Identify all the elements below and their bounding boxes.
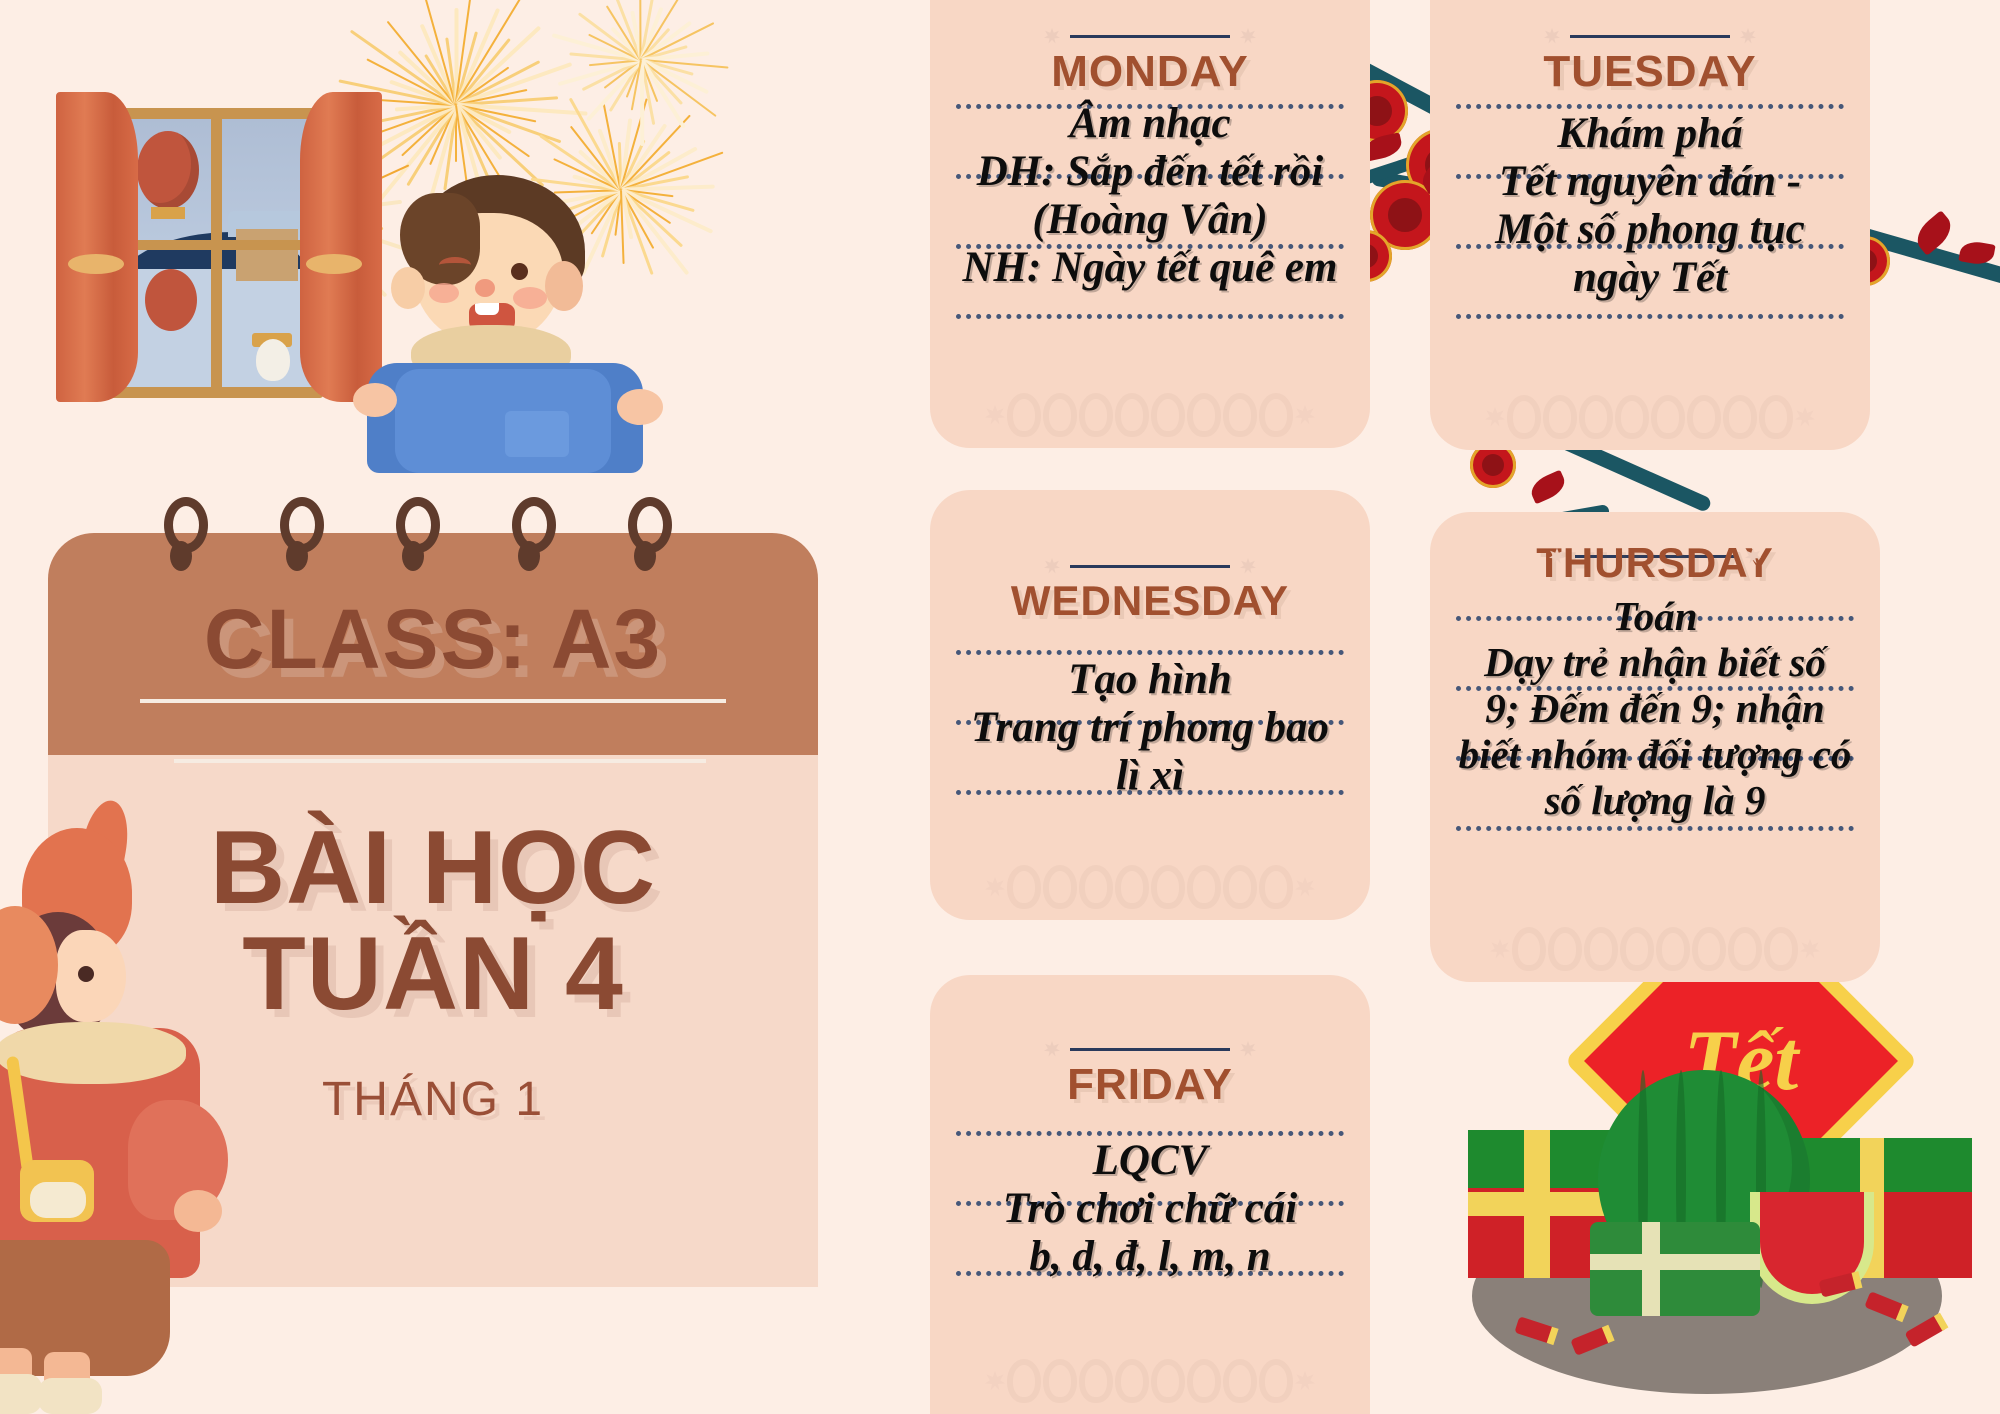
house-icon: [236, 229, 298, 281]
card-header-rule: [956, 1041, 1344, 1057]
flower-icon: [1240, 1041, 1256, 1057]
dotted-rule: [1456, 104, 1844, 109]
lesson-line: Âm nhạc: [956, 100, 1344, 148]
lessons-thursday: Toán Dạy trẻ nhận biết số 9; Đếm đến 9; …: [1456, 594, 1854, 824]
card-header-rule: [956, 28, 1344, 44]
boy-jacket-front: [395, 369, 611, 473]
flower-icon: [1544, 28, 1560, 44]
lesson-line: (Hoàng Vân): [956, 196, 1344, 244]
gift-box-left-ribbon-v: [1524, 1130, 1550, 1278]
rule-line: [1070, 1048, 1230, 1051]
lesson-line: Tạo hình: [956, 656, 1344, 704]
swirl-loop: [1656, 927, 1690, 971]
calendar-ring-4: [512, 497, 556, 573]
calendar-ring-2: [280, 497, 324, 573]
swirl-loop: [1007, 865, 1041, 909]
boy-blush-left: [429, 283, 459, 303]
lesson-line: b, d, đ, l, m, n: [956, 1233, 1344, 1281]
dotted-rule: [1456, 314, 1844, 319]
swirl-loop: [1259, 1359, 1293, 1403]
calendar-ring-1: [164, 497, 208, 573]
swirl-loop: [1512, 927, 1546, 971]
lesson-line: số lượng là 9: [1456, 778, 1854, 824]
swirl-loop: [1548, 927, 1582, 971]
calendar-ring-3: [396, 497, 440, 573]
lantern-icon: [137, 131, 199, 209]
swirl-loop: [1043, 393, 1077, 437]
calendar-rule-bottom: [174, 759, 706, 763]
girl-hand: [174, 1190, 222, 1232]
flower-icon: [1044, 28, 1060, 44]
tet-decoration: Tết: [1420, 930, 1980, 1400]
day-name-thursday: THURSDAY: [1456, 542, 1854, 584]
banh-chung-string-v: [1642, 1222, 1660, 1316]
lessons-monday: Âm nhạc DH: Sắp đến tết rồi (Hoàng Vân) …: [956, 100, 1344, 293]
lesson-line: Toán: [1456, 594, 1854, 640]
rule-line: [1570, 35, 1730, 38]
boy-ear-left: [391, 267, 425, 309]
dotted-rule: [1456, 826, 1854, 831]
swirl-loop: [1187, 1359, 1221, 1403]
lesson-line: Dạy trẻ nhận biết số: [1456, 640, 1854, 686]
flower-icon: [1485, 407, 1505, 427]
lantern-tassel-icon: [151, 207, 185, 219]
boy-hand-right: [617, 389, 663, 425]
swirl-loop: [1151, 393, 1185, 437]
girl-collar: [0, 1022, 186, 1084]
lesson-line: 9; Đếm đến 9; nhận: [1456, 686, 1854, 732]
day-name-friday: FRIDAY: [956, 1063, 1344, 1107]
lesson-line: biết nhóm đối tượng có: [1456, 732, 1854, 778]
swirl-loop: [1687, 395, 1721, 439]
swirl-loop: [1723, 395, 1757, 439]
snowman-icon: [256, 339, 290, 381]
day-name-tuesday: TUESDAY: [1456, 50, 1844, 94]
card-header-rule: [1456, 28, 1844, 44]
day-card-friday[interactable]: FRIDAY LQCV Trò chơi chữ cái b, d, đ, l,…: [930, 975, 1370, 1414]
flower-icon: [1800, 939, 1820, 959]
flower-icon: [985, 877, 1005, 897]
flower-icon: [1240, 28, 1256, 44]
day-card-tuesday[interactable]: TUESDAY Khám phá Tết nguyên đán - Một số…: [1430, 0, 1870, 450]
girl-boot-left: [0, 1374, 42, 1414]
swirl-loop: [1007, 1359, 1041, 1403]
curtain-tie-right: [306, 254, 362, 274]
window-illustration: [48, 78, 388, 408]
lesson-line: ngày Tết: [1456, 254, 1844, 302]
dotted-rule: [956, 314, 1344, 319]
swirl-loop: [1728, 927, 1762, 971]
boy-nose: [475, 279, 495, 297]
day-card-thursday[interactable]: THURSDAY Toán Dạy trẻ nhận biết số 9; Đế…: [1430, 512, 1880, 982]
swirl-loop: [1115, 1359, 1149, 1403]
flower-icon: [1490, 939, 1510, 959]
swirl-loop: [1507, 395, 1541, 439]
calendar-ring-5: [628, 497, 672, 573]
swirl-loop: [1584, 927, 1618, 971]
swirl-loop: [1764, 927, 1798, 971]
swirl-decoration: [1456, 922, 1854, 976]
swirl-loop: [1079, 393, 1113, 437]
dotted-rule: [956, 1131, 1344, 1136]
swirl-loop: [1543, 395, 1577, 439]
girl-bag-cat-face: [30, 1182, 86, 1218]
swirl-loop: [1579, 395, 1613, 439]
lessons-wednesday: Tạo hình Trang trí phong bao lì xì: [956, 656, 1344, 800]
flower-icon: [1295, 877, 1315, 897]
swirl-loop: [1223, 393, 1257, 437]
curtain-left: [56, 92, 138, 402]
weekly-lesson-poster: CLASS: A3 BÀI HỌC TUẦN 4 THÁNG 1 Tết: [0, 0, 2000, 1414]
boy-pocket: [505, 411, 569, 457]
rule-line: [1070, 35, 1230, 38]
swirl-loop: [1223, 1359, 1257, 1403]
curtain-tie-left: [68, 254, 124, 274]
swirl-loop: [1759, 395, 1793, 439]
flower-icon: [1795, 407, 1815, 427]
flower-icon: [1044, 1041, 1060, 1057]
flower-icon: [985, 405, 1005, 425]
calendar-rule-top: [140, 699, 726, 703]
swirl-loop: [1043, 1359, 1077, 1403]
flower-icon: [1295, 1371, 1315, 1391]
flower-icon: [1044, 558, 1060, 574]
boy-eye-right: [511, 263, 528, 280]
swirl-loop: [1259, 393, 1293, 437]
swirl-decoration: [1456, 390, 1844, 444]
lesson-line: LQCV: [956, 1137, 1344, 1185]
flower-icon: [985, 1371, 1005, 1391]
day-card-monday[interactable]: MONDAY Âm nhạc DH: Sắp đến tết rồi (Hoàn…: [930, 0, 1370, 448]
swirl-loop: [1223, 865, 1257, 909]
lesson-line: NH: Ngày tết quê em: [956, 244, 1344, 292]
lesson-line: Một số phong tục: [1456, 206, 1844, 254]
girl-boot-right: [38, 1378, 102, 1414]
window-frame: [108, 108, 323, 398]
swirl-loop: [1079, 1359, 1113, 1403]
swirl-loop: [1043, 865, 1077, 909]
swirl-loop: [1259, 865, 1293, 909]
swirl-loop: [1615, 395, 1649, 439]
swirl-decoration: [956, 1354, 1344, 1408]
day-name-monday: MONDAY: [956, 50, 1344, 94]
flower-icon: [1295, 405, 1315, 425]
lessons-tuesday: Khám phá Tết nguyên đán - Một số phong t…: [1456, 110, 1844, 303]
lesson-line: lì xì: [956, 752, 1344, 800]
lessons-friday: LQCV Trò chơi chữ cái b, d, đ, l, m, n: [956, 1137, 1344, 1281]
banh-chung-string-h: [1590, 1254, 1760, 1270]
swirl-loop: [1692, 927, 1726, 971]
boy-illustration: [355, 175, 655, 435]
lesson-line: Tết nguyên đán -: [1456, 158, 1844, 206]
lesson-line: Khám phá: [1456, 110, 1844, 158]
lesson-line: DH: Sắp đến tết rồi: [956, 148, 1344, 196]
firework-burst: [545, 0, 735, 155]
boy-teeth: [475, 303, 499, 315]
swirl-loop: [1187, 393, 1221, 437]
blossom-petal: [1527, 470, 1569, 505]
swirl-loop: [1007, 393, 1041, 437]
boy-blush-right: [513, 287, 547, 309]
swirl-loop: [1651, 395, 1685, 439]
window-mullion-vertical: [211, 119, 222, 387]
lesson-line: Trò chơi chữ cái: [956, 1185, 1344, 1233]
flower-icon: [1240, 558, 1256, 574]
boy-ear-right: [545, 261, 583, 311]
swirl-loop: [1115, 393, 1149, 437]
girl-illustration: [0, 800, 228, 1414]
swirl-decoration: [956, 388, 1344, 442]
boy-eye-left: [439, 257, 471, 273]
day-name-wednesday: WEDNESDAY: [956, 580, 1344, 622]
swirl-loop: [1151, 865, 1185, 909]
swirl-loop: [1620, 927, 1654, 971]
swirl-loop: [1187, 865, 1221, 909]
swirl-loop: [1079, 865, 1113, 909]
class-label: CLASS: A3: [48, 591, 818, 688]
boy-hand-left: [353, 383, 397, 417]
swirl-decoration: [956, 860, 1344, 914]
day-card-wednesday[interactable]: WEDNESDAY Tạo hình Trang trí phong bao l…: [930, 490, 1370, 920]
flower-icon: [1740, 28, 1756, 44]
swirl-loop: [1115, 865, 1149, 909]
lantern-second-icon: [145, 269, 197, 331]
rule-line: [1070, 565, 1230, 568]
dotted-rule: [956, 650, 1344, 655]
card-header-rule: [956, 558, 1344, 574]
girl-eye: [78, 966, 94, 982]
swirl-loop: [1151, 1359, 1185, 1403]
lesson-line: Trang trí phong bao: [956, 704, 1344, 752]
